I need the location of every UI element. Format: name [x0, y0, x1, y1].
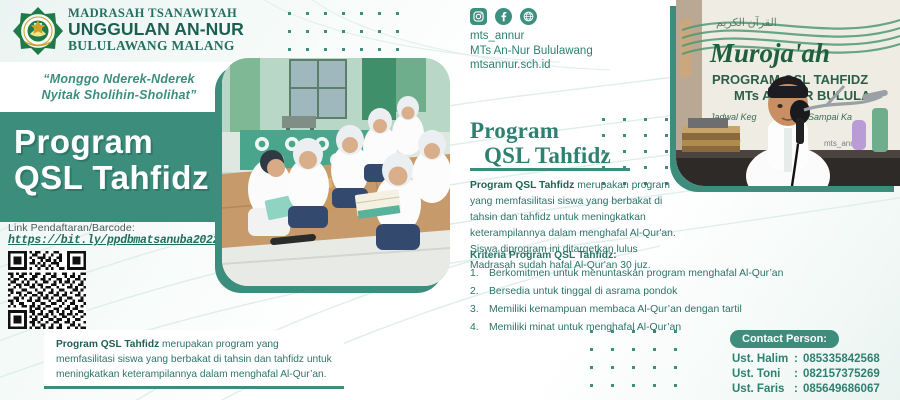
- school-name-line2: UNGGULAN AN-NUR: [68, 20, 244, 39]
- quote-line2: Nyitak Sholihin-Sholihat”: [14, 87, 224, 103]
- website-url: mtsannur.sch.id: [470, 58, 660, 73]
- contact-person-list: Ust. Halim:085335842568 Ust. Toni:082157…: [732, 352, 880, 398]
- classroom-photo: [222, 58, 450, 286]
- contact-separator: :: [794, 367, 803, 382]
- text-wrap-spacer: [686, 178, 882, 250]
- contact-separator: :: [794, 352, 803, 367]
- contact-phone[interactable]: 085335842568: [803, 352, 880, 367]
- contact-name: Ust. Faris: [732, 382, 794, 397]
- hero-title-line2: QSL Tahfidz: [14, 160, 209, 196]
- registration-label: Link Pendaftaran/Barcode:: [8, 222, 228, 234]
- contact-row: Ust. Halim:085335842568: [732, 352, 880, 367]
- right-heading-underline: [470, 168, 630, 171]
- facebook-icon[interactable]: [495, 8, 512, 25]
- qr-code[interactable]: [8, 251, 86, 329]
- svg-text:القرآن الكريم: القرآن الكريم: [716, 16, 777, 29]
- social-media-block: mts_annur MTs An-Nur Bululawang mtsannur…: [470, 8, 660, 73]
- svg-text:Sampai Ka: Sampai Ka: [808, 112, 852, 122]
- contact-name: Ust. Halim: [732, 352, 794, 367]
- school-name-block: MADRASAH TSANAWIYAH UNGGULAN AN-NUR BULU…: [68, 7, 244, 54]
- right-body-lead: Program QSL Tahfidz: [470, 180, 574, 191]
- right-heading-line2: QSL Tahfidz: [470, 143, 670, 168]
- criteria-title: Kriteria Program QSL Tahfidz:: [470, 250, 617, 261]
- contact-separator: :: [794, 382, 803, 397]
- hero-title-line1: Program: [14, 124, 209, 160]
- criteria-text: Berkomitmen untuk menuntaskan program me…: [489, 265, 783, 283]
- facebook-page-name: MTs An-Nur Bululawang: [470, 44, 660, 59]
- social-icon-row: [470, 8, 660, 25]
- instagram-icon[interactable]: [470, 8, 487, 25]
- school-name-line1: MADRASAH TSANAWIYAH: [68, 7, 244, 20]
- speech-banner-title-text: Muroja'ah: [709, 38, 830, 68]
- criteria-number: 1.: [470, 265, 482, 283]
- criteria-number: 3.: [470, 301, 482, 319]
- registration-url[interactable]: https://bit.ly/ppdbmatsanuba2022: [8, 234, 228, 247]
- criteria-list: 1.Berkomitmen untuk menuntaskan program …: [470, 265, 882, 337]
- contact-name: Ust. Toni: [732, 367, 794, 382]
- hero-title: Program QSL Tahfidz: [14, 124, 209, 195]
- contact-phone[interactable]: 082157375269: [803, 367, 880, 382]
- quote-line1: “Monggo Nderek-Nderek: [14, 71, 224, 87]
- hero-title-panel: Program QSL Tahfidz: [0, 112, 230, 222]
- criteria-text: Bersedia untuk tinggal di asrama pondok: [489, 283, 677, 301]
- quote-text: “Monggo Nderek-Nderek Nyitak Sholihin-Sh…: [14, 71, 224, 103]
- criteria-text: Memiliki minat untuk menghafal Al-Qur’an: [489, 319, 681, 337]
- speech-photo: القرآن الكريم Muroja'ah PROGRAM QSL TAHF…: [676, 0, 900, 186]
- summary-card: Program QSL Tahfidz merupakan program ya…: [44, 330, 344, 386]
- poster-header: MADRASAH TSANAWIYAH UNGGULAN AN-NUR BULU…: [0, 0, 470, 62]
- right-heading: Program QSL Tahfidz: [470, 118, 670, 169]
- list-item: 1.Berkomitmen untuk menuntaskan program …: [470, 265, 882, 283]
- summary-card-text: Program QSL Tahfidz merupakan program ya…: [44, 330, 344, 382]
- criteria-number: 4.: [470, 319, 482, 337]
- social-text-lines: mts_annur MTs An-Nur Bululawang mtsannur…: [470, 29, 660, 73]
- list-item: 3.Memiliki kemampuan membaca Al-Qur’an d…: [470, 301, 882, 319]
- summary-card-lead: Program QSL Tahfidz: [56, 339, 159, 350]
- poster-canvas: MADRASAH TSANAWIYAH UNGGULAN AN-NUR BULU…: [0, 0, 900, 400]
- contact-row: Ust. Faris:085649686067: [732, 382, 880, 397]
- globe-icon[interactable]: [520, 8, 537, 25]
- instagram-handle: mts_annur: [470, 29, 660, 44]
- school-logo-icon: [12, 6, 64, 56]
- list-item: 2.Bersedia untuk tinggal di asrama pondo…: [470, 283, 882, 301]
- contact-row: Ust. Toni:082157375269: [732, 367, 880, 382]
- school-name-line3: BULULAWANG MALANG: [68, 39, 244, 53]
- registration-block: Link Pendaftaran/Barcode: https://bit.ly…: [8, 222, 228, 329]
- criteria-text: Memiliki kemampuan membaca Al-Qur’an den…: [489, 301, 742, 319]
- right-heading-line1: Program: [470, 118, 670, 143]
- contact-person-badge: Contact Person:: [730, 330, 839, 348]
- criteria-number: 2.: [470, 283, 482, 301]
- contact-phone[interactable]: 085649686067: [803, 382, 880, 397]
